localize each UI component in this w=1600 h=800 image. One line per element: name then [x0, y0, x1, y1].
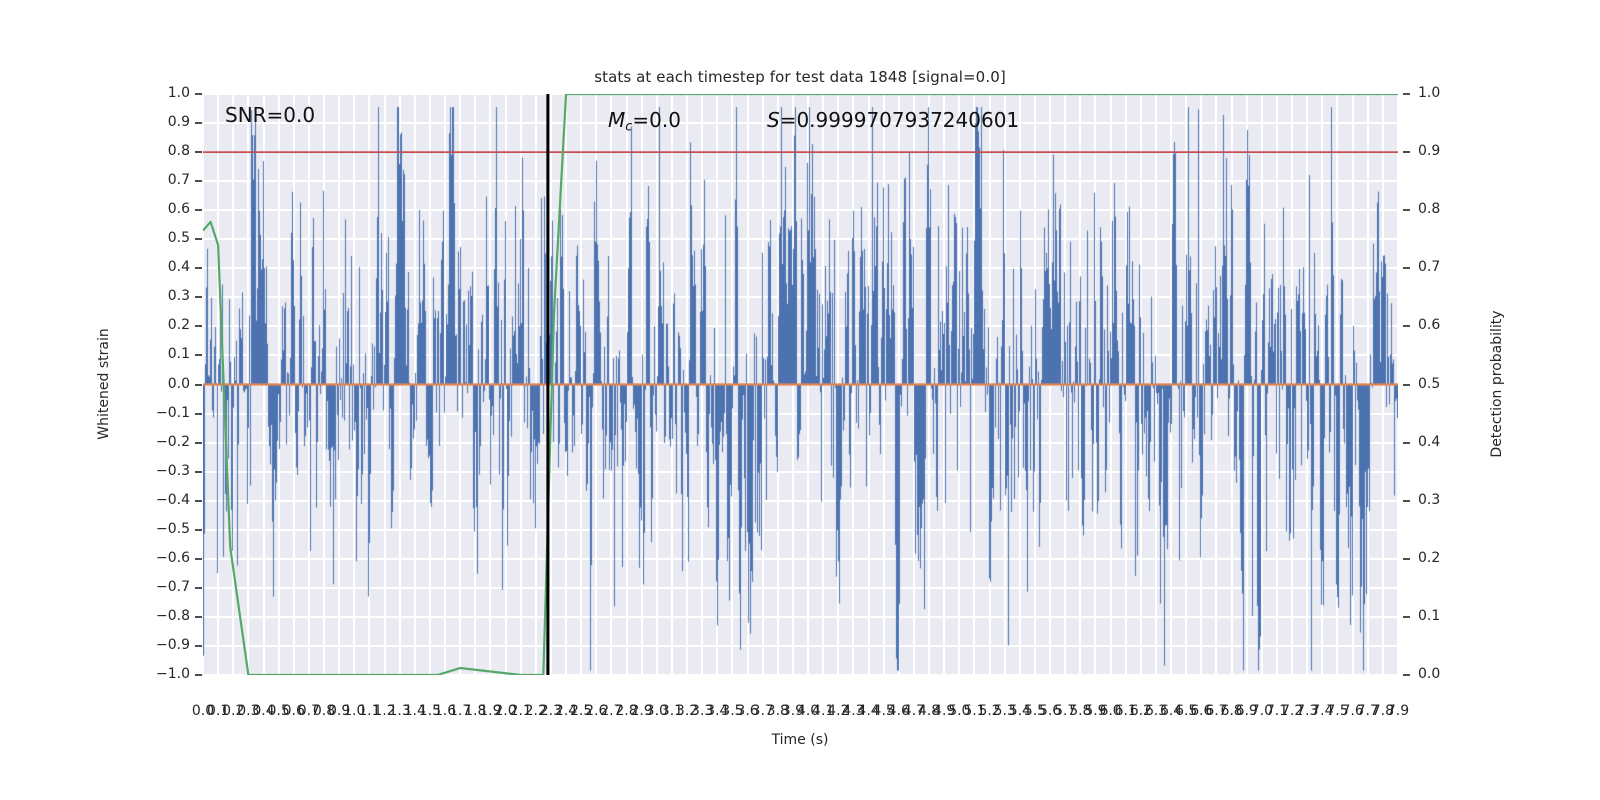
y-axis-left-tick-mark	[195, 325, 202, 327]
y-axis-left-tick-label: 0.4	[138, 260, 190, 274]
y-axis-right-tick-mark	[1403, 151, 1410, 153]
y-axis-left-tick-label: 1.0	[138, 86, 190, 100]
x-axis-label: Time (s)	[0, 732, 1600, 748]
y-axis-left-tick-mark	[195, 674, 202, 676]
y-axis-right-tick-mark	[1403, 674, 1410, 676]
y-axis-left-tick-label: 0.6	[138, 202, 190, 216]
y-axis-right-tick-label: 0.5	[1418, 377, 1478, 391]
y-axis-left-tick-label: −0.1	[138, 406, 190, 420]
y-axis-right-tick-label: 0.3	[1418, 493, 1478, 507]
y-axis-left-tick-label: 0.0	[138, 377, 190, 391]
y-axis-right-tick-label: 0.0	[1418, 667, 1478, 681]
y-axis-right-tick-mark	[1403, 93, 1410, 95]
y-axis-left-tick-mark	[195, 151, 202, 153]
y-axis-left-tick-mark	[195, 93, 202, 95]
page-title: stats at each timestep for test data 184…	[0, 68, 1600, 86]
y-axis-left-tick-mark	[195, 209, 202, 211]
y-axis-right-tick-label: 1.0	[1418, 86, 1478, 100]
y-axis-left-label: Whitened strain	[96, 328, 112, 439]
y-axis-right-tick-label: 0.1	[1418, 609, 1478, 623]
y-axis-left-tick-mark	[195, 267, 202, 269]
y-axis-right-tick-mark	[1403, 267, 1410, 269]
y-axis-right-tick-label: 0.2	[1418, 551, 1478, 565]
y-axis-left-tick-label: 0.9	[138, 115, 190, 129]
y-axis-right-label: Detection probability	[1489, 310, 1505, 457]
y-axis-left-tick-mark	[195, 529, 202, 531]
y-axis-left-tick-label: −0.4	[138, 493, 190, 507]
statistic-value: =0.9999707937240601	[780, 108, 1019, 132]
y-axis-left-tick-mark	[195, 500, 202, 502]
y-axis-right-tick-mark	[1403, 616, 1410, 618]
y-axis-left-tick-mark	[195, 413, 202, 415]
y-axis-left-tick-mark	[195, 180, 202, 182]
y-axis-left-tick-mark	[195, 645, 202, 647]
y-axis-right-tick-mark	[1403, 442, 1410, 444]
chirp-mass-symbol: M	[608, 108, 625, 132]
y-axis-right-tick-label: 0.4	[1418, 435, 1478, 449]
y-axis-left-tick-label: 0.2	[138, 318, 190, 332]
snr-annotation: SNR=0.0	[225, 103, 315, 127]
statistic-symbol: S	[767, 108, 780, 132]
y-axis-left-tick-mark	[195, 238, 202, 240]
y-axis-left-tick-label: 0.8	[138, 144, 190, 158]
y-axis-right-tick-mark	[1403, 209, 1410, 211]
y-axis-left-tick-label: −0.7	[138, 580, 190, 594]
y-axis-right-tick-mark	[1403, 500, 1410, 502]
y-axis-right-tick-mark	[1403, 384, 1410, 386]
y-axis-left-tick-label: −0.8	[138, 609, 190, 623]
y-axis-left-tick-label: 0.5	[138, 231, 190, 245]
y-axis-left-tick-mark	[195, 471, 202, 473]
chirp-mass-annotation: Mc=0.0	[608, 108, 681, 134]
y-axis-left-tick-label: −1.0	[138, 667, 190, 681]
y-axis-left-tick-mark	[195, 587, 202, 589]
y-axis-right-tick-label: 0.8	[1418, 202, 1478, 216]
y-axis-right-tick-mark	[1403, 558, 1410, 560]
y-axis-left-tick-mark	[195, 442, 202, 444]
y-axis-left-tick-label: −0.2	[138, 435, 190, 449]
y-axis-right-tick-mark	[1403, 325, 1410, 327]
y-axis-right-tick-label: 0.9	[1418, 144, 1478, 158]
y-axis-left-tick-label: −0.5	[138, 522, 190, 536]
y-axis-left-tick-mark	[195, 296, 202, 298]
y-axis-left-tick-mark	[195, 122, 202, 124]
y-axis-left-tick-mark	[195, 354, 202, 356]
y-axis-left-tick-label: 0.3	[138, 289, 190, 303]
y-axis-left-tick-mark	[195, 616, 202, 618]
overlay-series	[203, 94, 1398, 675]
y-axis-left-tick-mark	[195, 558, 202, 560]
x-axis-tick-label: 7.9	[1378, 703, 1418, 719]
statistic-annotation: S=0.9999707937240601	[767, 108, 1019, 132]
y-axis-left-tick-label: −0.6	[138, 551, 190, 565]
chirp-mass-value: =0.0	[632, 108, 681, 132]
y-axis-left-tick-label: −0.9	[138, 638, 190, 652]
figure-canvas: stats at each timestep for test data 184…	[0, 0, 1600, 800]
y-axis-right-tick-label: 0.6	[1418, 318, 1478, 332]
y-axis-left-tick-label: −0.3	[138, 464, 190, 478]
plot-area: SNR=0.0 Mc=0.0 S=0.9999707937240601 wave…	[203, 94, 1398, 675]
y-axis-left-tick-mark	[195, 384, 202, 386]
y-axis-left-tick-label: 0.1	[138, 347, 190, 361]
y-axis-left-tick-label: 0.7	[138, 173, 190, 187]
y-axis-right-tick-label: 0.7	[1418, 260, 1478, 274]
